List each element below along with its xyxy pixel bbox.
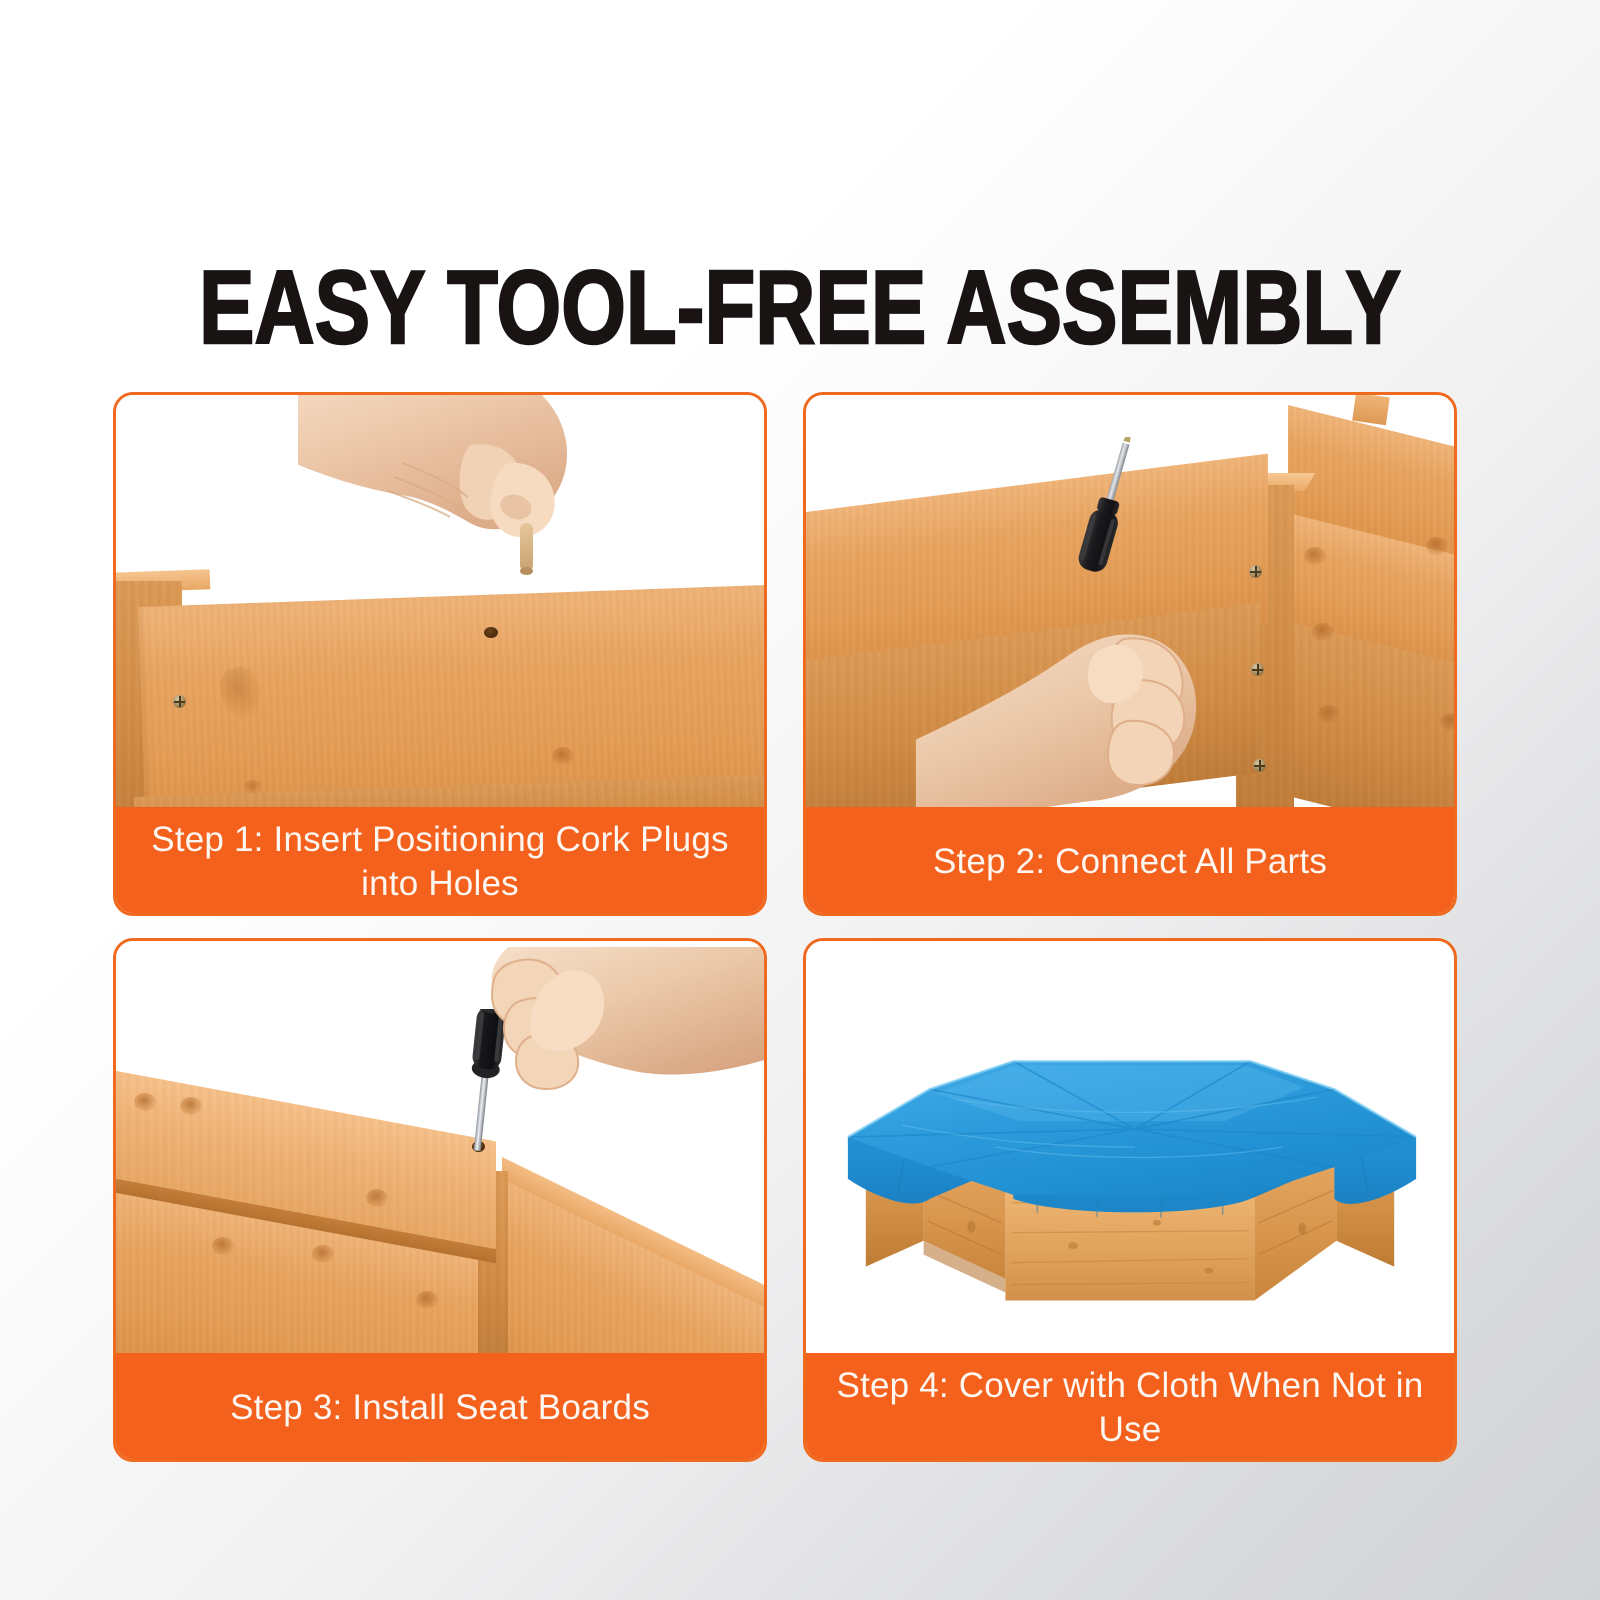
hand-icon [916, 535, 1266, 813]
infographic-root: EASY TOOL-FREE ASSEMBLY [0, 0, 1600, 1600]
connector-tab-icon [1352, 395, 1390, 425]
step-1-caption: Step 1: Insert Positioning Cork Plugs in… [113, 807, 767, 916]
step-card-4[interactable]: Step 4: Cover with Cloth When Not in Use [803, 938, 1457, 1462]
wood-knot-icon [1426, 537, 1448, 555]
wood-knot-icon [366, 1189, 388, 1207]
wood-knot-icon [180, 1097, 202, 1115]
step-4-caption: Step 4: Cover with Cloth When Not in Use [803, 1353, 1457, 1462]
octagon-sandbox-icon [806, 941, 1454, 1359]
wood-knot-icon [1318, 705, 1340, 723]
step-3-caption: Step 3: Install Seat Boards [113, 1353, 767, 1462]
wood-knot-icon [212, 1237, 234, 1255]
screw-icon [173, 695, 186, 708]
step-2-photo [806, 395, 1454, 813]
page-title: EASY TOOL-FREE ASSEMBLY [160, 256, 1440, 360]
hand-icon [434, 947, 764, 1127]
hand-icon [298, 395, 658, 639]
steps-grid: Step 1: Insert Positioning Cork Plugs in… [113, 392, 1457, 1486]
wood-knot-icon [134, 1093, 156, 1111]
step-4-photo [806, 941, 1454, 1359]
wood-knot-icon [1312, 623, 1334, 641]
step-1-photo [116, 395, 764, 813]
step-2-caption: Step 2: Connect All Parts [803, 807, 1457, 916]
wood-knot-icon [552, 747, 574, 765]
wood-knot-icon [244, 780, 262, 794]
wood-knot-icon [1304, 547, 1326, 565]
wood-knot-icon [416, 1291, 438, 1309]
wood-knot-icon [312, 1245, 334, 1263]
step-3-photo [116, 941, 764, 1359]
step-card-3[interactable]: Step 3: Install Seat Boards [113, 938, 767, 1462]
step-card-1[interactable]: Step 1: Insert Positioning Cork Plugs in… [113, 392, 767, 916]
step-card-2[interactable]: Step 2: Connect All Parts [803, 392, 1457, 916]
